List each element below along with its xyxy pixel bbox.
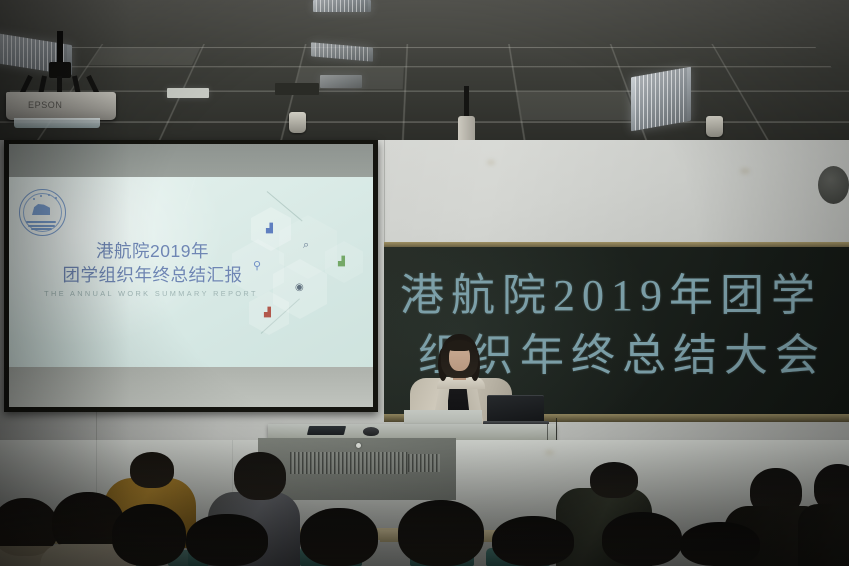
projector-brand-label: EPSON [28, 100, 63, 110]
university-emblem-icon [19, 189, 66, 236]
slide-title-line2: 团学组织年终总结汇报 [45, 263, 260, 287]
bar-chart-icon: ▟ [266, 224, 273, 233]
slide-subtitle: THE ANNUAL WORK SUMMARY REPORT [39, 289, 263, 298]
presentation-slide: ▟ ⌕ ⚲ ◉ ▟ ▟ 港航院2019年 团学组织年终总结汇报 THE ANNU… [9, 177, 373, 367]
ceiling-light-fixture [313, 0, 371, 12]
mouse-device [363, 427, 379, 436]
projector-lens-glow [14, 118, 100, 128]
wall-speaker-icon [818, 166, 849, 204]
classroom-scene: EPSON [0, 0, 849, 566]
screen-unprojected-bottom [9, 367, 373, 407]
blackboard-text-line1: 港航院2019年团学 [400, 259, 822, 323]
ceiling-light-fixture [167, 88, 209, 98]
target-icon: ◉ [295, 283, 304, 292]
projection-screen-surface: ▟ ⌕ ⚲ ◉ ▟ ▟ 港航院2019年 团学组织年终总结汇报 THE ANNU… [9, 144, 373, 407]
slide-title-line1: 港航院2019年 [45, 239, 260, 263]
ceiling-light-fixture [275, 83, 319, 95]
ceiling-light-fixture [631, 67, 691, 132]
ceiling: EPSON [0, 0, 849, 148]
ceiling-speaker [289, 112, 306, 133]
bar-chart-green-icon: ▟ [338, 257, 345, 266]
laptop-screen [487, 395, 544, 424]
ceiling-speaker [706, 116, 723, 137]
tablet-device [307, 426, 346, 435]
av-equipment-cabinet [258, 438, 456, 500]
slide-title: 港航院2019年 团学组织年终总结汇报 [45, 239, 260, 287]
screen-unprojected-top [9, 144, 373, 177]
magnifier-icon: ⌕ [303, 241, 309, 250]
projector-body: EPSON [6, 92, 116, 120]
bar-chart-red-icon: ▟ [264, 308, 271, 317]
projection-screen: ▟ ⌕ ⚲ ◉ ▟ ▟ 港航院2019年 团学组织年终总结汇报 THE ANNU… [4, 140, 378, 412]
